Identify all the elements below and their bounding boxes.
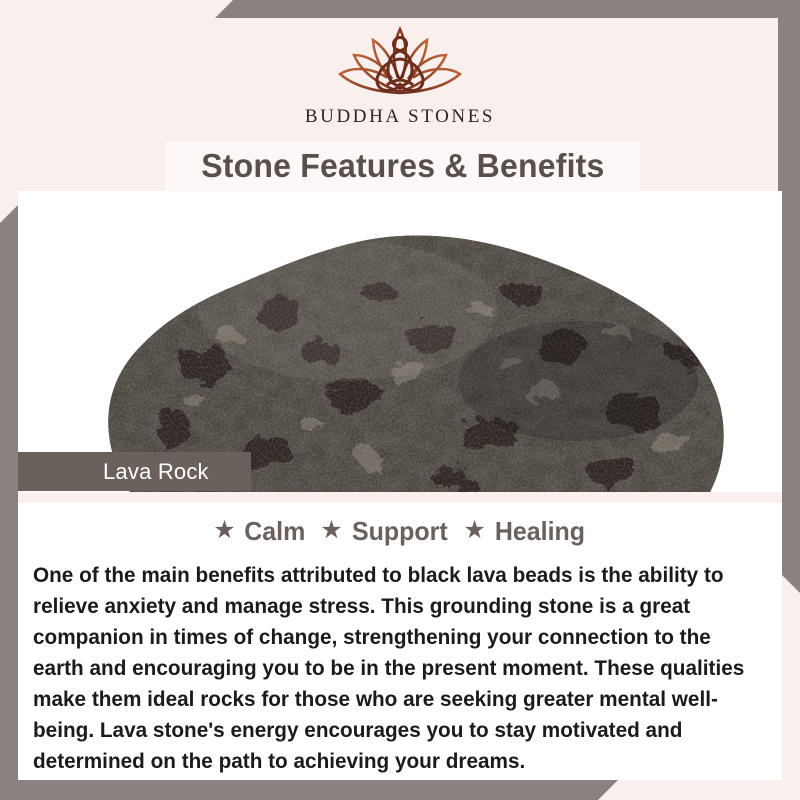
page-title-band: Stone Features & Benefits bbox=[165, 141, 640, 191]
feature-list: ★ Calm ★ Support ★ Healing bbox=[18, 516, 782, 547]
photo-caption: Lava Rock bbox=[18, 459, 209, 485]
lotus-meditation-icon bbox=[325, 18, 475, 104]
benefits-description: One of the main benefits attributed to b… bbox=[33, 560, 747, 777]
feature-item-calm: ★ Calm bbox=[213, 516, 306, 547]
feature-item-support: ★ Support bbox=[320, 516, 449, 547]
decor-band-left bbox=[0, 205, 18, 800]
feature-label: Calm bbox=[244, 516, 305, 547]
lava-rock-image bbox=[18, 191, 782, 492]
stone-benefits-poster: BUDDHA STONES Stone Features & Benefits bbox=[0, 0, 800, 800]
star-icon: ★ bbox=[320, 518, 342, 543]
brand-header: BUDDHA STONES bbox=[0, 0, 800, 140]
photo-caption-band: Lava Rock bbox=[18, 452, 251, 491]
star-icon: ★ bbox=[213, 518, 235, 543]
feature-label: Support bbox=[352, 516, 448, 547]
lava-rock-photo bbox=[18, 191, 782, 492]
feature-item-healing: ★ Healing bbox=[463, 516, 586, 547]
star-icon: ★ bbox=[463, 518, 485, 543]
feature-label: Healing bbox=[495, 516, 585, 547]
brand-name: BUDDHA STONES bbox=[305, 106, 495, 128]
page-title: Stone Features & Benefits bbox=[201, 147, 604, 185]
decor-band-bottom bbox=[0, 778, 620, 800]
benefits-panel: ★ Calm ★ Support ★ Healing One of the ma… bbox=[18, 492, 782, 780]
panel-top-strip bbox=[18, 492, 782, 503]
